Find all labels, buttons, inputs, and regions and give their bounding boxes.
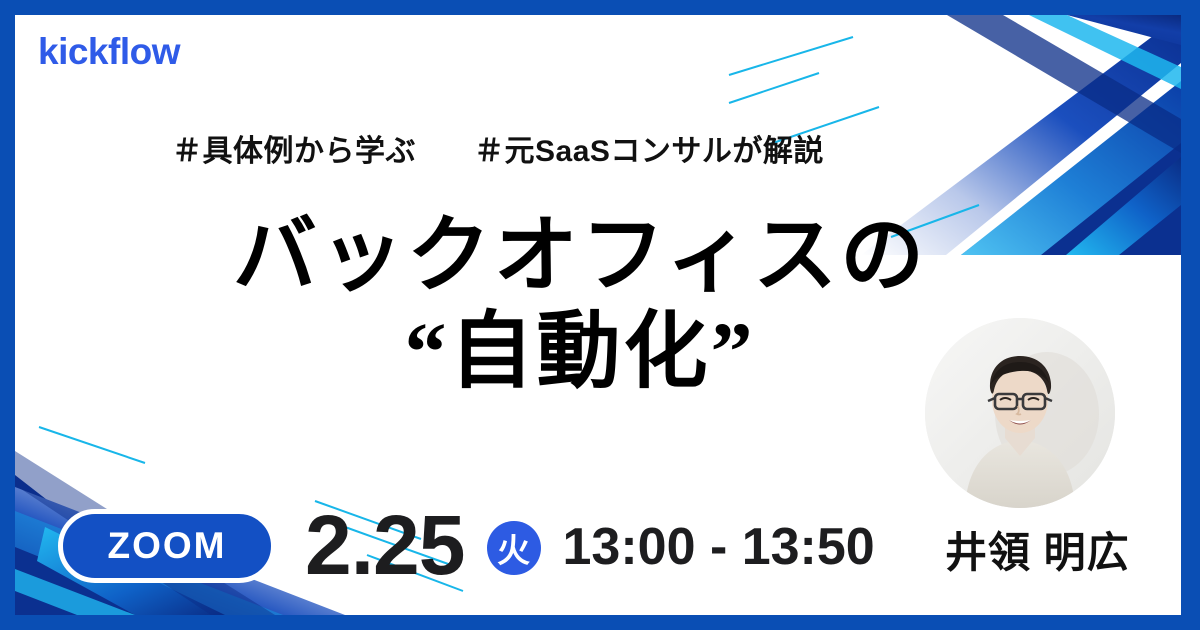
date-time-group: 2.25 火 13:00 - 13:50 (305, 495, 875, 595)
event-date: 2.25 (305, 495, 465, 595)
frame-edge-bottom (0, 615, 1200, 630)
webinar-banner: kickflow ＃具体例から学ぶ ＃元SaaSコンサルが解説 バックオフィスの… (0, 0, 1200, 630)
weekday-badge: 火 (487, 521, 541, 575)
page-title: バックオフィスの “自動化” (0, 208, 1200, 401)
event-time: 13:00 - 13:50 (563, 517, 875, 577)
hashtag-row: ＃具体例から学ぶ ＃元SaaSコンサルが解説 (172, 126, 824, 170)
title-line-1: バックオフィスの (0, 208, 1160, 304)
frame-edge-top (0, 0, 1200, 15)
kickflow-logo[interactable]: kickflow (38, 33, 180, 70)
speaker-name: 井領 明広 (945, 519, 1130, 580)
title-line-2: “自動化” (0, 304, 1160, 401)
title-emphasis: 自動化 (449, 304, 710, 398)
event-details-bar: ZOOM 2.25 火 13:00 - 13:50 井領 明広 (0, 495, 1200, 615)
close-quote: ” (711, 306, 756, 399)
frame-edge-right (1181, 0, 1200, 630)
platform-badge: ZOOM (58, 509, 276, 583)
hashtag-2: ＃元SaaSコンサルが解説 (474, 126, 824, 170)
frame-edge-left (0, 0, 15, 630)
open-quote: “ (404, 306, 449, 399)
hashtag-1: ＃具体例から学ぶ (172, 126, 416, 170)
